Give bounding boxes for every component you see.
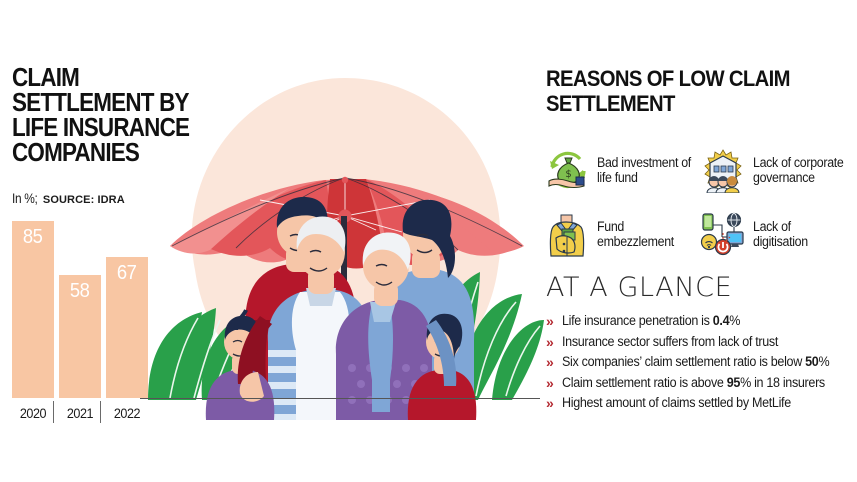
bar-2020: 85 <box>12 221 54 398</box>
money-bag-recycle-icon: $ <box>544 147 590 193</box>
chevron-bullet-icon: » <box>546 312 562 330</box>
list-item: » Insurance sector suffers from lack of … <box>546 333 851 354</box>
list-item: » Highest amount of claims settled by Me… <box>546 394 851 415</box>
bar-value-2022: 67 <box>117 262 137 398</box>
list-item-text: Highest amount of claims settled by MetL… <box>562 394 791 412</box>
at-a-glance-heading: AT A GLANCE <box>546 272 732 303</box>
reason-fund-embezzlement: Fund embezzlement <box>544 202 700 266</box>
bar-2021: 58 <box>59 275 101 398</box>
reason-label: Bad investment of life fund <box>597 155 692 186</box>
list-item: » Six companies’ claim settlement ratio … <box>546 353 851 374</box>
reason-bad-investment: $ Bad investment of life fund <box>544 138 700 202</box>
list-item-text: Six companies’ claim settlement ratio is… <box>562 353 829 371</box>
digital-devices-network-icon <box>700 211 746 257</box>
reason-corporate-governance: Lack of corporate governance <box>700 138 856 202</box>
reason-lack-of-digitisation: Lack of digitisation <box>700 202 856 266</box>
bar-value-2021: 58 <box>70 280 90 398</box>
list-item-text: Life insurance penetration is 0.4% <box>562 312 740 330</box>
chart-unit-note: In %; <box>12 190 37 206</box>
svg-text:$: $ <box>565 169 571 180</box>
illustration-svg <box>140 20 550 420</box>
bar-2022: 67 <box>106 257 148 398</box>
reasons-grid: $ Bad investment of life fund <box>544 138 856 266</box>
corporate-building-people-icon <box>700 147 746 193</box>
chevron-bullet-icon: » <box>546 394 562 412</box>
list-item: » Claim settlement ratio is above 95% in… <box>546 374 851 395</box>
reasons-heading: REASONS OF LOW CLAIM SETTLEMENT <box>546 66 816 116</box>
list-item: » Life insurance penetration is 0.4% <box>546 312 851 333</box>
chart-baseline <box>140 398 540 399</box>
infographic-root: CLAIM SETTLEMENT BY LIFE INSURANCE COMPA… <box>0 0 857 482</box>
person-hiding-money-icon <box>544 211 590 257</box>
reasons-row-1: $ Bad investment of life fund <box>544 138 856 202</box>
axis-label-2021: 2021 <box>59 405 100 421</box>
chevron-bullet-icon: » <box>546 353 562 371</box>
axis-label-2020: 2020 <box>12 405 53 421</box>
page-title: CLAIM SETTLEMENT BY LIFE INSURANCE COMPA… <box>12 66 197 166</box>
reason-label: Lack of corporate governance <box>753 155 848 186</box>
reasons-row-2: Fund embezzlement <box>544 202 856 266</box>
reason-label: Fund embezzlement <box>597 219 692 250</box>
list-item-text: Insurance sector suffers from lack of tr… <box>562 333 778 351</box>
list-item-text: Claim settlement ratio is above 95% in 1… <box>562 374 825 392</box>
bar-value-2020: 85 <box>23 226 43 398</box>
chevron-bullet-icon: » <box>546 374 562 392</box>
axis-label-2022: 2022 <box>106 405 147 421</box>
at-a-glance-list: » Life insurance penetration is 0.4% » I… <box>546 312 851 415</box>
claim-settlement-bar-chart: 85 58 67 2020 2021 2022 <box>0 205 150 430</box>
chevron-bullet-icon: » <box>546 333 562 351</box>
reason-label: Lack of digitisation <box>753 219 848 250</box>
family-under-umbrella-illustration <box>140 20 550 420</box>
